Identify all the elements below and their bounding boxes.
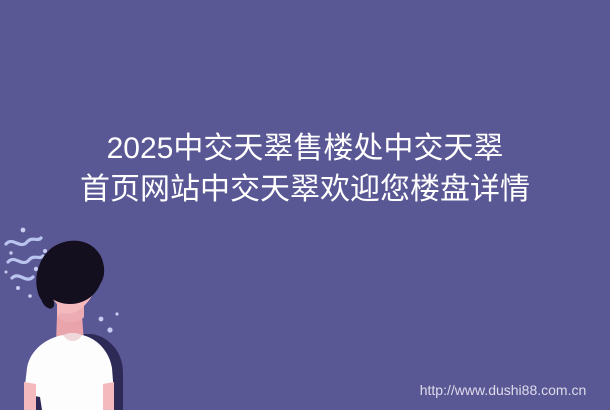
promo-banner: 2025中交天翠售楼处中交天翠 首页网站中交天翠欢迎您楼盘详情 http://w… (0, 0, 610, 410)
right-arm (103, 382, 114, 410)
headline-line-2: 首页网站中交天翠欢迎您楼盘详情 (0, 169, 610, 210)
page-title: 2025中交天翠售楼处中交天翠 首页网站中交天翠欢迎您楼盘详情 (0, 128, 610, 210)
headline-line-1: 2025中交天翠售楼处中交天翠 (0, 128, 610, 169)
watermark-url: http://www.dushi88.com.cn (410, 381, 596, 399)
left-arm (24, 382, 36, 410)
person-looking-up-illustration (0, 222, 190, 410)
